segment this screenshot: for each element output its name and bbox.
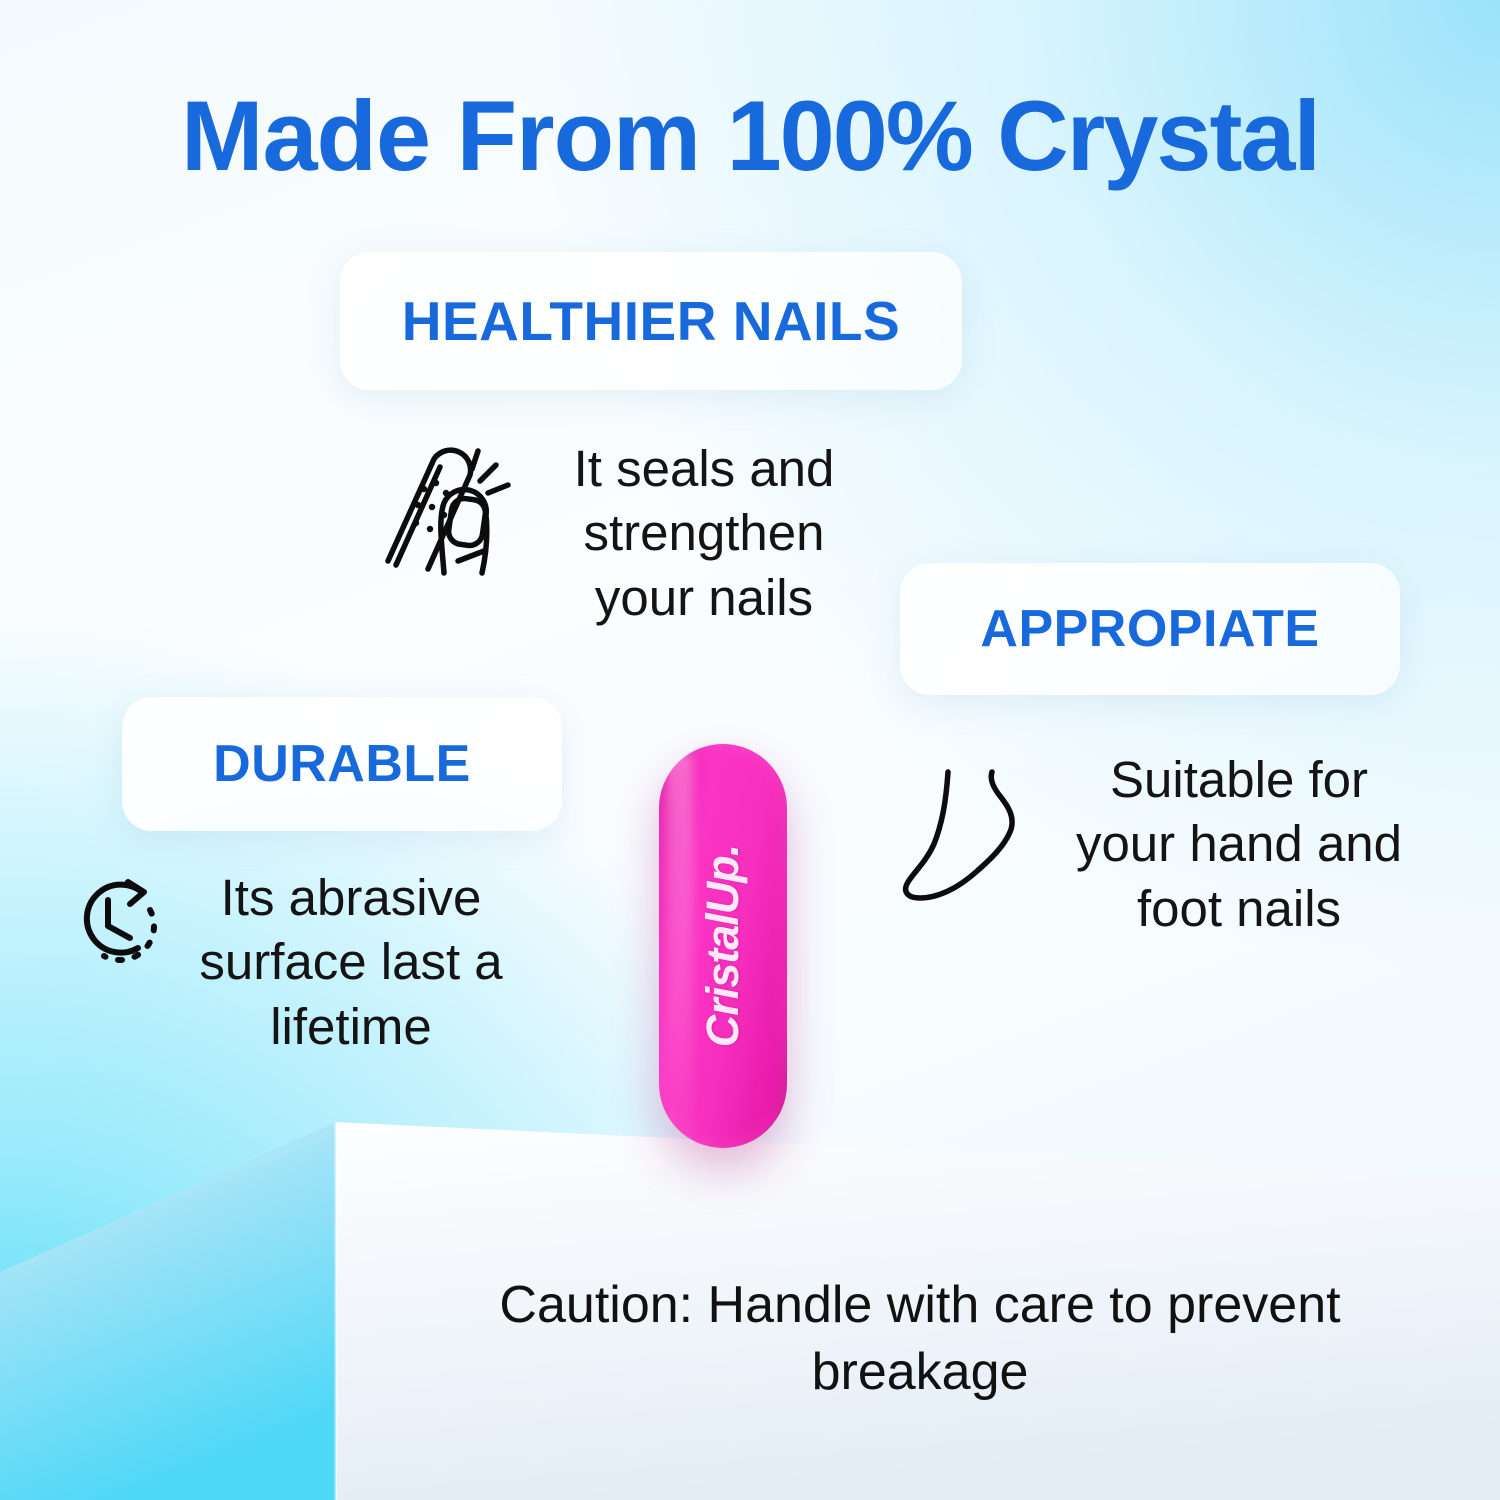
foot-icon (896, 748, 1056, 911)
headline-bold: 100% Crystal (727, 80, 1319, 191)
badge-durable-label: DURABLE (213, 734, 471, 794)
feature-durable-lifetime: Its abrasive surface last a lifetime (64, 866, 534, 1059)
feature-hand-and-foot: Suitable for your hand and foot nails (896, 748, 1406, 941)
crystal-nail-file-product: CristalUp. (659, 744, 787, 1148)
badge-healthier-nails: HEALTHIER NAILS (340, 252, 962, 390)
badge-healthier-label: HEALTHIER NAILS (402, 289, 900, 353)
page-title: Made From 100% Crystal (0, 84, 1500, 189)
nail-file-icon (372, 437, 522, 582)
badge-appropiate-label: APPROPIATE (980, 599, 1319, 659)
feature-seals-text: It seals and strengthen your nails (544, 437, 864, 630)
caution-note: Caution: Handle with care to prevent bre… (470, 1272, 1370, 1405)
badge-appropiate: APPROPIATE (900, 563, 1400, 695)
badge-durable: DURABLE (122, 697, 562, 831)
feature-appropiate-text: Suitable for your hand and foot nails (1074, 748, 1404, 941)
infographic-canvas: Made From 100% Crystal HEALTHIER NAILS A… (0, 0, 1500, 1500)
feature-seals-and-strengthen: It seals and strengthen your nails (372, 437, 872, 630)
feature-durable-text: Its abrasive surface last a lifetime (186, 866, 516, 1059)
clock-icon (64, 866, 168, 979)
headline-light: Made From (181, 80, 727, 191)
product-brand-logo: CristalUp. (697, 845, 749, 1048)
